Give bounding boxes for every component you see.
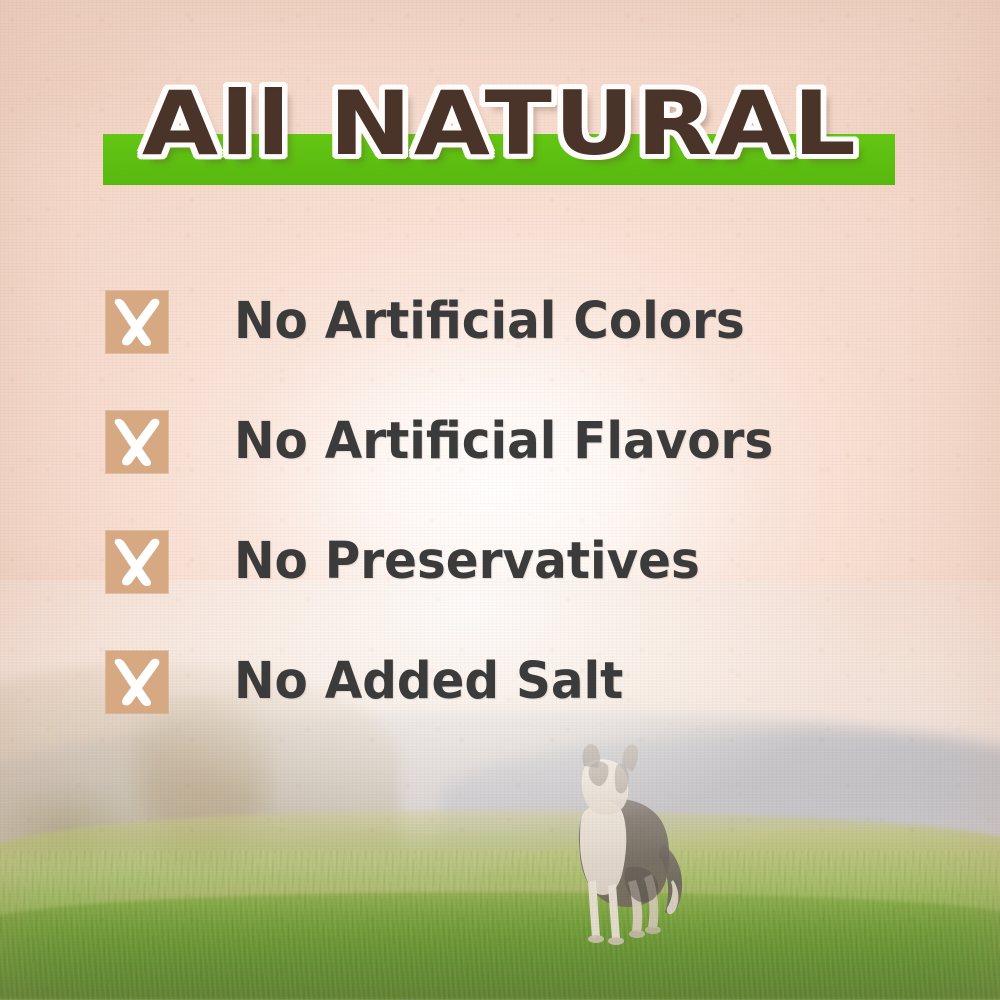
grass-texture [0, 850, 1000, 1000]
x-mark-icon [106, 531, 168, 593]
feature-label: No Artificial Colors [234, 293, 745, 351]
headline-zone: All NATURAL [0, 72, 1000, 202]
feature-label: No Added Salt [234, 653, 623, 711]
feature-list: No Artificial Colors No Artificial Flavo… [106, 262, 906, 742]
border-collie-dog [534, 740, 704, 948]
x-mark-icon [106, 651, 168, 713]
feature-label: No Artificial Flavors [234, 413, 773, 471]
all-natural-feature-poster: All NATURAL No Artificial Colors No Arti… [0, 0, 1000, 1000]
x-mark-icon [106, 291, 168, 353]
feature-row: No Artificial Colors [106, 262, 906, 382]
feature-row: No Artificial Flavors [106, 382, 906, 502]
x-mark-icon [106, 411, 168, 473]
feature-label: No Preservatives [234, 533, 700, 591]
feature-row: No Preservatives [106, 502, 906, 622]
page-title: All NATURAL [0, 72, 1000, 176]
feature-row: No Added Salt [106, 622, 906, 742]
